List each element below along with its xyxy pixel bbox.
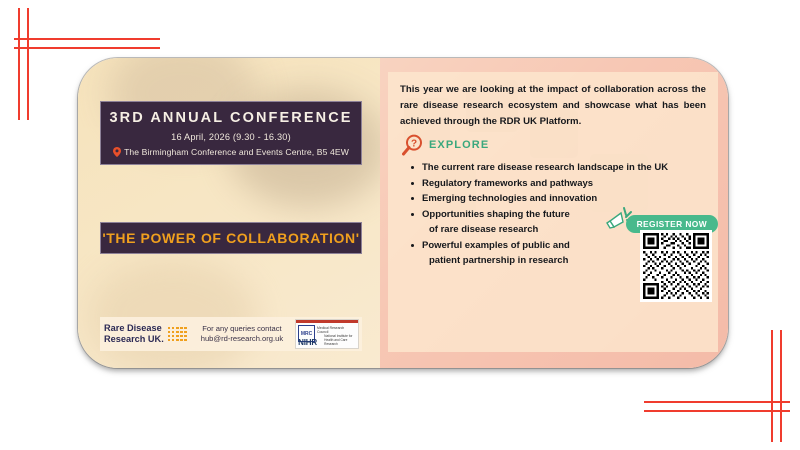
- list-item: Regulatory frameworks and pathways: [422, 176, 706, 192]
- contact-label: For any queries contact: [201, 324, 283, 334]
- corner-rule-horizontal: [644, 410, 790, 412]
- list-item: The current rare disease research landsc…: [422, 160, 706, 176]
- explore-heading-row: ? EXPLORE: [402, 134, 706, 156]
- poster-footer: Rare Disease Research UK. For any querie…: [100, 317, 362, 351]
- dot-grid-icon: [168, 327, 187, 342]
- list-item-line-1: Powerful examples of public and: [422, 240, 570, 251]
- brand-line-1: Rare Disease: [104, 323, 164, 334]
- conference-poster-card: 3RD ANNUAL CONFERENCE 16 April, 2026 (9.…: [78, 58, 728, 368]
- explore-label: EXPLORE: [429, 139, 489, 151]
- corner-rule-vertical: [27, 8, 29, 120]
- list-item-line-1: Regulatory frameworks and pathways: [422, 178, 593, 189]
- conference-header-banner: 3RD ANNUAL CONFERENCE 16 April, 2026 (9.…: [100, 101, 362, 165]
- poster-left-panel: 3RD ANNUAL CONFERENCE 16 April, 2026 (9.…: [78, 58, 380, 368]
- corner-rule-vertical: [780, 330, 782, 442]
- contact-email[interactable]: hub@rd-research.org.uk: [201, 334, 283, 344]
- corner-rule-horizontal: [644, 401, 790, 403]
- qr-code[interactable]: [640, 230, 712, 302]
- magnifier-question-icon: ?: [402, 134, 423, 156]
- venue-row: The Birmingham Conference and Events Cen…: [113, 147, 349, 157]
- nihr-subtitle: National Institute for Health and Care R…: [324, 334, 358, 346]
- location-pin-icon: [113, 147, 121, 157]
- nihr-top-bar: [296, 320, 358, 323]
- page-title: 3RD ANNUAL CONFERENCE: [109, 110, 352, 126]
- conference-date: 16 April, 2026 (9.30 - 16.30): [171, 132, 291, 142]
- list-item-line-1: The current rare disease research landsc…: [422, 162, 668, 173]
- corner-rule-horizontal: [14, 47, 160, 49]
- list-item-line-1: Emerging technologies and innovation: [422, 193, 597, 204]
- svg-text:?: ?: [411, 138, 417, 149]
- theme-text: 'THE POWER OF COLLABORATION': [102, 230, 359, 246]
- brand-name: Rare Disease Research UK.: [104, 323, 164, 345]
- nihr-partner-logo: MRC Medical Research Council NIHR Nation…: [295, 319, 359, 349]
- intro-paragraph: This year we are looking at the impact o…: [400, 82, 706, 130]
- corner-rule-vertical: [771, 330, 773, 442]
- venue-text: The Birmingham Conference and Events Cen…: [124, 147, 349, 157]
- theme-banner: 'THE POWER OF COLLABORATION': [100, 222, 362, 254]
- poster-right-panel: This year we are looking at the impact o…: [380, 58, 728, 368]
- contact-block: For any queries contact hub@rd-research.…: [201, 324, 283, 344]
- list-item-line-1: Opportunities shaping the future: [422, 209, 570, 220]
- list-item: Emerging technologies and innovation: [422, 191, 706, 207]
- qr-code-image: [643, 233, 709, 299]
- corner-rule-vertical: [18, 8, 20, 120]
- nihr-wordmark: NIHR: [298, 338, 317, 347]
- brand-line-2: Research UK.: [104, 334, 164, 345]
- rare-disease-research-uk-logo: Rare Disease Research UK.: [100, 323, 187, 345]
- corner-rule-horizontal: [14, 38, 160, 40]
- background-blob: [88, 258, 258, 368]
